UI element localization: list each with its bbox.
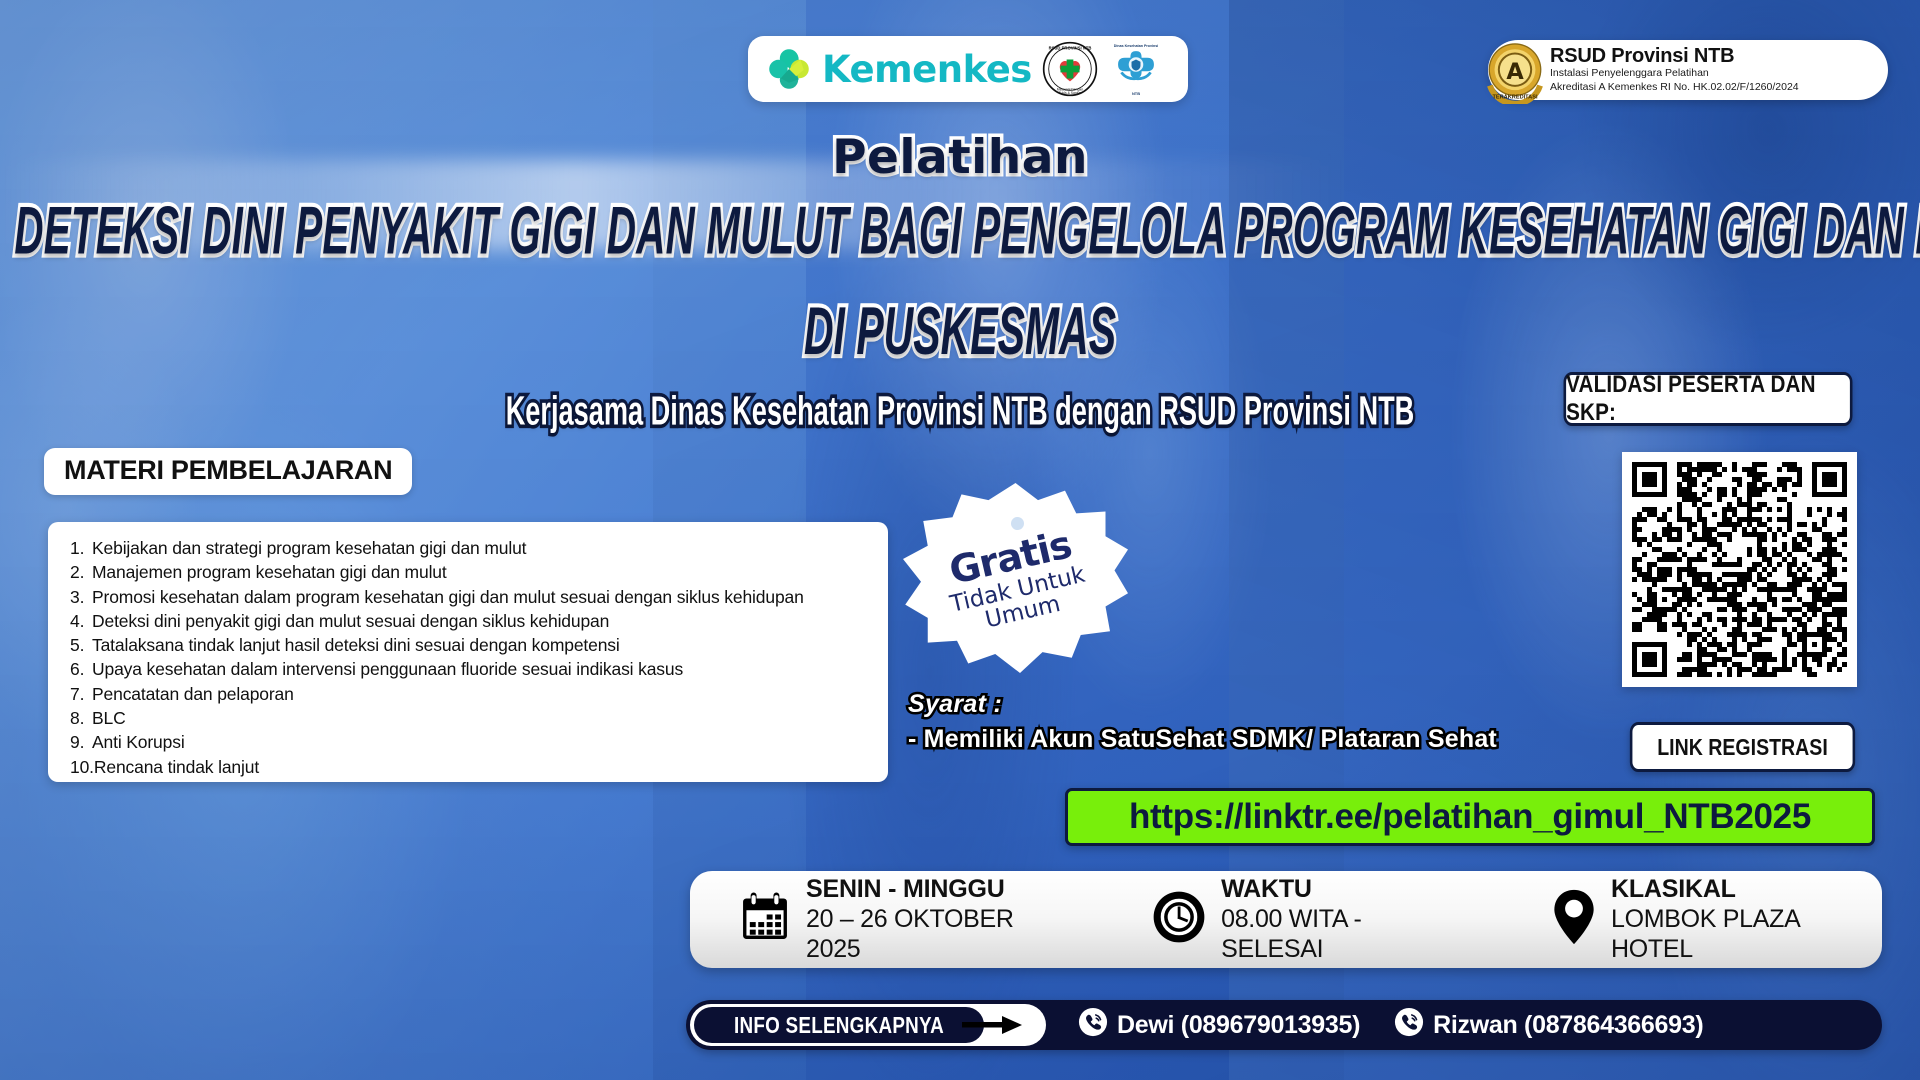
materi-list-item: 9.Anti Korupsi [70,730,868,754]
poster-root: Kemenkes RSUD PROVINSI NTB Melayani Deng… [0,0,1920,1080]
event-info-location-line1: KLASIKAL [1611,875,1882,904]
materi-list-item: 6.Upaya kesehatan dalam intervensi pengg… [70,657,868,681]
materi-item-number: 9. [70,730,92,754]
clock-icon [1151,889,1207,950]
materi-list-item: 10.Rencana tindak lanjut [70,755,868,779]
syarat-block: Syarat : - Memiliki Akun SatuSehat SDMK/… [908,690,1608,754]
materi-item-text: Promosi kesehatan dalam program kesehata… [92,587,804,607]
materi-item-number: 6. [70,657,92,681]
svg-text:Dinas Kesehatan Provinsi: Dinas Kesehatan Provinsi [1114,44,1159,48]
contact-person-2[interactable]: Rizwan (087864366693) [1394,1007,1703,1044]
gratis-badge: Gratis Tidak Untuk Umum [903,483,1128,673]
materi-item-number: 2. [70,560,92,584]
dinas-kesehatan-provinsi-ntb-logo-icon: Dinas Kesehatan Provinsi NTB [1108,41,1164,97]
materi-item-number: 1. [70,536,92,560]
kemenkes-wordmark: Kemenkes [822,48,1032,91]
accreditation-title: RSUD Provinsi NTB [1550,46,1799,67]
svg-text:A: A [1506,59,1524,85]
qr-code-canvas[interactable] [1632,462,1847,677]
syarat-item-1: - Memiliki Akun SatuSehat SDMK/ Plataran… [908,725,1608,754]
info-selengkapnya-label: INFO SELENGKAPNYA [734,1012,944,1039]
validasi-label: VALIDASI PESERTA DAN SKP: [1564,372,1853,426]
arrow-right-icon [962,1014,1024,1041]
event-info-time-line2: 08.00 WITA - SELESAI [1221,904,1465,964]
syarat-heading: Syarat : [908,690,1608,719]
info-selengkapnya-inner[interactable]: INFO SELENGKAPNYA [694,1007,984,1043]
materi-item-text: Anti Korupsi [92,732,185,752]
info-selengkapnya-button[interactable]: INFO SELENGKAPNYA [690,1004,1046,1046]
event-info-date-line2: 20 – 26 OKTOBER 2025 [806,904,1069,964]
event-info-bar: SENIN - MINGGU 20 – 26 OKTOBER 2025 [690,871,1882,968]
contact-person-1[interactable]: Dewi (089679013935) [1078,1007,1360,1044]
materi-list-item: 8.BLC [70,706,868,730]
event-info-time: WAKTU 08.00 WITA - SELESAI [1151,875,1465,964]
location-pin-icon [1551,888,1597,951]
logo-bar: Kemenkes RSUD PROVINSI NTB Melayani Deng… [748,36,1188,102]
contact-person-2-name: Rizwan (087864366693) [1433,1011,1703,1040]
materi-item-number: 3. [70,585,92,609]
event-info-location-line2: LOMBOK PLAZA HOTEL [1611,904,1882,964]
accreditation-medal-icon: A TERAKREDITASI [1482,38,1548,104]
materi-item-number: 10. [70,755,94,779]
registration-link-button[interactable]: https://linktr.ee/pelatihan_gimul_NTB202… [1065,788,1875,846]
headline-title-line-2: DI PUSKESMAS [0,293,1920,371]
materi-list-item: 2.Manajemen program kesehatan gigi dan m… [70,560,868,584]
contact-person-1-name: Dewi (089679013935) [1117,1011,1360,1040]
accreditation-badge: A TERAKREDITASI RSUD Provinsi NTB Instal… [1488,40,1888,100]
event-info-location: KLASIKAL LOMBOK PLAZA HOTEL [1551,875,1882,964]
calendar-icon [738,890,792,949]
materi-list-box: 1.Kebijakan dan strategi program kesehat… [48,522,888,782]
materi-item-text: Manajemen program kesehatan gigi dan mul… [92,562,447,582]
svg-text:NTB: NTB [1132,91,1140,96]
materi-item-text: Rencana tindak lanjut [94,757,259,777]
event-info-time-line1: WAKTU [1221,875,1465,904]
materi-list: 1.Kebijakan dan strategi program kesehat… [70,536,868,779]
contact-bar: INFO SELENGKAPNYA Dewi (089679013935) [686,1000,1882,1050]
materi-item-number: 5. [70,633,92,657]
phone-icon [1394,1007,1424,1044]
materi-list-item: 4.Deteksi dini penyakit gigi dan mulut s… [70,609,868,633]
headline-title-line-1: DETEKSI DINI PENYAKIT GIGI DAN MULUT BAG… [14,191,1905,271]
event-info-date: SENIN - MINGGU 20 – 26 OKTOBER 2025 [738,875,1069,964]
materi-item-text: Upaya kesehatan dalam intervensi penggun… [92,659,683,679]
materi-list-item: 5.Tatalaksana tindak lanjut hasil deteks… [70,633,868,657]
materi-item-text: BLC [92,708,126,728]
materi-list-item: 1.Kebijakan dan strategi program kesehat… [70,536,868,560]
qr-code[interactable] [1622,452,1857,687]
phone-icon [1078,1007,1108,1044]
gratis-badge-hole [1011,517,1024,530]
materi-item-number: 7. [70,682,92,706]
headline-eyebrow: Pelatihan [0,130,1920,185]
kemenkes-logo-icon [766,46,812,92]
materi-item-number: 4. [70,609,92,633]
svg-text:RSUD PROVINSI NTB: RSUD PROVINSI NTB [1048,45,1091,50]
registration-link-url[interactable]: https://linktr.ee/pelatihan_gimul_NTB202… [1129,797,1811,837]
materi-item-text: Kebijakan dan strategi program kesehatan… [92,538,526,558]
accreditation-line1: Instalasi Penyelenggara Pelatihan [1550,67,1799,81]
svg-text:TERAKREDITASI: TERAKREDITASI [1492,95,1538,101]
rsud-provinsi-ntb-logo-icon: RSUD PROVINSI NTB Melayani Dengan Tulus … [1042,41,1098,97]
materi-item-text: Pencatatan dan pelaporan [92,684,294,704]
event-info-date-line1: SENIN - MINGGU [806,875,1069,904]
materi-item-text: Deteksi dini penyakit gigi dan mulut ses… [92,611,609,631]
materi-header: MATERI PEMBELAJARAN [44,448,412,495]
materi-item-number: 8. [70,706,92,730]
svg-text:Tulus & Santun: Tulus & Santun [1058,91,1081,95]
materi-item-text: Tatalaksana tindak lanjut hasil deteksi … [92,635,620,655]
link-registrasi-label: LINK REGISTRASI [1630,722,1855,772]
materi-list-item: 7.Pencatatan dan pelaporan [70,682,868,706]
accreditation-line2: Akreditasi A Kemenkes RI No. HK.02.02/F/… [1550,81,1799,95]
materi-list-item: 3.Promosi kesehatan dalam program keseha… [70,585,868,609]
